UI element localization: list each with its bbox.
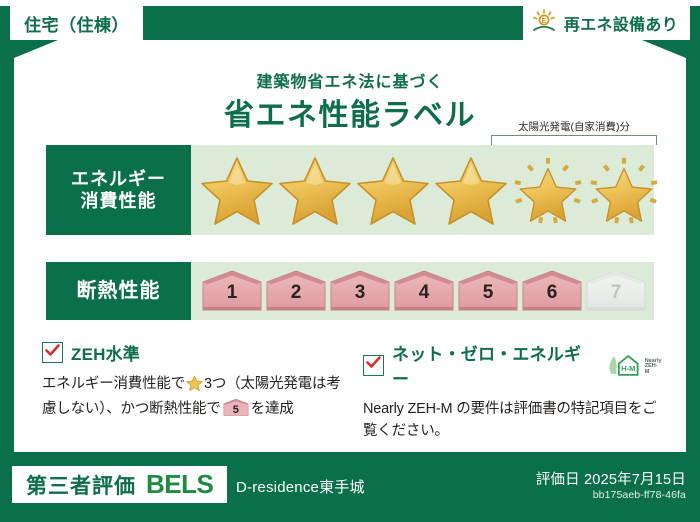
insulation-level-4-value: 4 xyxy=(393,282,455,304)
insulation-performance-body: 1 2 xyxy=(191,262,654,320)
svg-text:H-M: H-M xyxy=(621,364,635,373)
insulation-level-7: 7 xyxy=(585,269,647,313)
inline-star-icon xyxy=(186,379,203,395)
net-zero-title: ネット・ゼロ・エネルギー xyxy=(392,340,594,390)
insulation-performance-label: 断熱性能 xyxy=(46,262,191,320)
sun-energy-icon: E xyxy=(531,9,557,38)
insulation-level-1-value: 1 xyxy=(201,282,263,304)
insulation-level-3-value: 3 xyxy=(329,282,391,304)
energy-performance-label: エネルギー 消費性能 xyxy=(46,145,191,235)
insulation-level-2: 2 xyxy=(265,269,327,313)
net-zero-checkbox xyxy=(363,355,384,376)
renewable-energy-badge: E 再エネ設備あり xyxy=(523,6,690,40)
zeh-info-column: ZEH水準 エネルギー消費性能で3つ（太陽光発電は考慮しない）、かつ断熱性能で5… xyxy=(42,340,341,443)
check-icon xyxy=(366,356,381,374)
zeh-star-count: 3つ xyxy=(204,376,226,392)
energy-performance-row: エネルギー 消費性能 xyxy=(46,145,654,235)
insulation-performance-row: 断熱性能 xyxy=(46,262,654,320)
insulation-level-6-value: 6 xyxy=(521,282,583,304)
solar-portion-note: 太陽光発電(自家消費)分 xyxy=(491,119,657,134)
star-solar-6 xyxy=(587,154,661,226)
net-zero-description: Nearly ZEH-M の要件は評価書の特記項目をご覧ください。 xyxy=(363,398,662,443)
net-zero-info-column: ネット・ゼロ・エネルギー H-M Nearly ZEH-M Nearly xyxy=(363,340,662,443)
zeh-text-part1: エネルギー消費性能で xyxy=(42,376,185,392)
evaluation-date: 評価日 2025年7月15日 xyxy=(536,468,686,489)
label-panel: 建築物省エネ法に基づく 省エネ性能ラベル エネルギー 消費性能 xyxy=(14,40,686,452)
check-icon xyxy=(45,344,60,362)
insulation-performance-label-text: 断熱性能 xyxy=(77,279,161,304)
category-tag-label: 住宅（住棟） xyxy=(24,11,129,36)
energy-performance-label-line2: 消費性能 xyxy=(81,190,157,213)
logo-sub-zehm: ZEH-M xyxy=(645,364,662,376)
insulation-level-1: 1 xyxy=(201,269,263,313)
zeh-title: ZEH水準 xyxy=(71,340,140,365)
star-filled-1 xyxy=(199,154,275,226)
inline-house-value: 5 xyxy=(223,402,249,419)
zeh-info-header: ZEH水準 xyxy=(42,340,341,365)
insulation-level-7-value: 7 xyxy=(585,282,647,304)
insulation-level-4: 4 xyxy=(393,269,455,313)
energy-performance-label-line1: エネルギー xyxy=(71,168,166,191)
star-filled-2 xyxy=(277,154,353,226)
star-filled-4 xyxy=(433,154,509,226)
renewable-energy-label: 再エネ設備あり xyxy=(564,11,678,35)
insulation-level-2-value: 2 xyxy=(265,282,327,304)
zeh-description: エネルギー消費性能で3つ（太陽光発電は考慮しない）、かつ断熱性能で5を達成 xyxy=(42,373,341,421)
nearly-zeh-m-logo: H-M Nearly ZEH-M xyxy=(608,352,662,378)
inline-house-icon: 5 xyxy=(223,398,249,417)
svg-text:E: E xyxy=(542,18,547,25)
star-rating xyxy=(191,154,661,226)
bels-plate: 第三者評価 BELS xyxy=(12,466,227,503)
insulation-level-5-value: 5 xyxy=(457,282,519,304)
bels-en-label: BELS xyxy=(146,469,213,500)
zeh-checkbox xyxy=(42,342,63,363)
building-name: D-residence東手城 xyxy=(236,476,365,497)
star-solar-5 xyxy=(511,154,585,226)
label-footer: 第三者評価 BELS D-residence東手城 評価日 2025年7月15日… xyxy=(0,456,700,522)
solar-portion-bracket xyxy=(491,135,657,145)
energy-performance-body: 太陽光発電(自家消費)分 xyxy=(191,145,661,235)
category-tag: 住宅（住棟） xyxy=(10,6,143,40)
bels-jp-label: 第三者評価 xyxy=(26,470,136,500)
evaluation-id: bb175aeb-ff78-46fa xyxy=(593,489,686,501)
insulation-level-scale: 1 2 xyxy=(191,269,647,313)
star-filled-3 xyxy=(355,154,431,226)
info-columns: ZEH水準 エネルギー消費性能で3つ（太陽光発電は考慮しない）、かつ断熱性能で5… xyxy=(42,340,662,443)
insulation-level-6: 6 xyxy=(521,269,583,313)
insulation-level-5: 5 xyxy=(457,269,519,313)
energy-label-root: 住宅（住棟） E 再エネ設備あり 建築物省エネ法に基づく 省エネ性能ラベル xyxy=(0,0,700,522)
insulation-level-3: 3 xyxy=(329,269,391,313)
net-zero-info-header: ネット・ゼロ・エネルギー H-M Nearly ZEH-M xyxy=(363,340,662,390)
zeh-text-part3: を達成 xyxy=(251,401,294,417)
label-subtitle: 建築物省エネ法に基づく xyxy=(14,68,686,92)
